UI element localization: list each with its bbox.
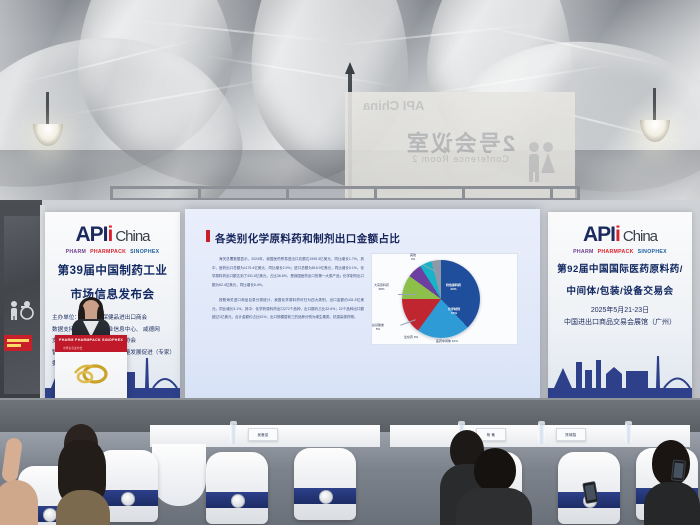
logo-i-accent: i xyxy=(615,223,620,246)
right-banner: APIiChina PHARMPHARMPACKSINOPHEX 第92届中国国… xyxy=(548,212,692,402)
water-bottle xyxy=(538,421,545,444)
chair xyxy=(206,452,268,524)
right-banner-title-line1: 第92届中国国际医药原料药/ xyxy=(548,264,692,277)
restroom-icon xyxy=(523,140,557,184)
sub-brand-sinophex: SINOPHEX xyxy=(130,249,159,255)
cocktail-table xyxy=(152,444,206,506)
left-banner-title-line1: 第39届中国制药工业 xyxy=(45,264,180,279)
sub-brand-pharmpack: PHARMPACK xyxy=(90,249,126,255)
nameplate-text: 陈楠智 xyxy=(557,432,585,437)
logo-api-text: API xyxy=(75,223,107,246)
water-bottle xyxy=(230,421,237,444)
presentation-slide: 各类别化学原料药和制剂出口金额占比 海关总署数据显示，2024年，我国医药贸易进… xyxy=(185,209,540,403)
chair xyxy=(294,448,356,520)
podium-emblem-icon xyxy=(71,361,111,389)
chair-buckle xyxy=(231,494,245,508)
event-location: 中国进出口商品交易会展馆（广州） xyxy=(548,317,692,329)
pie-label-formulation: 化学制剂15% xyxy=(448,308,460,316)
slide-paragraph-2: 按照海关进口商品目录分类统计，我国化学原料药可归为四大类别，出口金额约431.5… xyxy=(212,296,364,322)
pie-label-specialty: 特色原料药22% xyxy=(446,284,461,292)
chair-buckle xyxy=(319,490,333,504)
podium-subtitle: 市场信息发布会 xyxy=(63,346,83,350)
sub-brand-pharm: PHARM xyxy=(66,249,87,255)
event-date: 2025年5月21-23日 xyxy=(548,305,692,317)
slide-title: 各类别化学原料药和制剂出口金额占比 xyxy=(215,231,400,246)
sub-brand-pharm: PHARM xyxy=(573,249,594,255)
restroom-sign-icon xyxy=(8,300,36,320)
api-china-logo-right: APIiChina xyxy=(548,224,692,245)
pie-label-daizong: 大宗原料药38% xyxy=(374,284,389,292)
pendant-cord xyxy=(46,92,49,126)
projection-screen: 各类别化学原料药和制剂出口金额占比 海关总署数据显示，2024年，我国医药贸易进… xyxy=(185,209,540,425)
pie-slices xyxy=(402,260,480,338)
podium-logo-row: PHARM PHARMPACK SINOPHEX xyxy=(59,338,123,342)
pie-label-biochem: 生化药 6% xyxy=(404,336,418,340)
audience-member xyxy=(456,448,532,525)
nameplate: 陈楠智 xyxy=(556,428,586,441)
back-wall-brand: API China xyxy=(363,98,424,113)
pie-chart-container: 其他4% 大宗原料药38% 氨基酸类5% 生化药 6% 医药中间体 10% xyxy=(371,253,518,345)
sub-brand-sinophex: SINOPHEX xyxy=(638,249,667,255)
logo-i-accent: i xyxy=(107,223,112,246)
slide-paragraph-1: 海关总署数据显示，2024年，我国医药贸易进出口总额达1995.3亿美元，同比增… xyxy=(212,255,364,289)
podium: PHARM PHARMPACK SINOPHEX 市场信息发布会 xyxy=(55,335,127,407)
water-bottle xyxy=(625,421,632,444)
slide-body-text: 海关总署数据显示，2024年，我国医药贸易进出口总额达1995.3亿美元，同比增… xyxy=(212,255,364,329)
sub-brand-row-right: PHARMPHARMPACKSINOPHEX xyxy=(548,249,692,255)
audience-member-with-raised-hand xyxy=(0,438,40,525)
pie-label-aminoacid: 氨基酸类5% xyxy=(372,324,384,332)
smartphone[interactable] xyxy=(671,459,686,481)
pendant-cord xyxy=(653,88,656,122)
chair-buckle xyxy=(121,492,135,506)
pie-chart: 其他4% 大宗原料药38% 氨基酸类5% 生化药 6% 医药中间体 10% xyxy=(402,260,480,338)
emergency-exit-sign xyxy=(4,335,32,351)
api-china-logo-left: APIiChina xyxy=(45,224,180,245)
title-accent-bar xyxy=(206,230,210,242)
sub-brand-row-left: PHARMPHARMPACKSINOPHEX xyxy=(45,249,180,255)
guangzhou-skyline-graphic xyxy=(548,344,692,402)
audience-member xyxy=(52,424,112,525)
podium-header-band: PHARM PHARMPACK SINOPHEX 市场信息发布会 xyxy=(55,335,127,352)
nameplate-text: 吴鹿苗 xyxy=(249,432,277,437)
logo-china-text: China xyxy=(623,228,657,245)
sub-brand-pharmpack: PHARMPACK xyxy=(598,249,634,255)
right-banner-title-line2: 中间体/包装/设备交易会 xyxy=(548,286,692,299)
conference-photo: API China 2号会议室 Conference Room 2 xyxy=(0,0,700,525)
logo-china-text: China xyxy=(115,228,149,245)
pie-label-intermediates: 医药中间体 10% xyxy=(436,340,458,344)
nameplate: 吴鹿苗 xyxy=(248,428,278,441)
logo-api-text: API xyxy=(583,223,615,246)
audience-member-with-phone xyxy=(644,440,700,525)
pie-label-other: 其他4% xyxy=(410,254,416,262)
